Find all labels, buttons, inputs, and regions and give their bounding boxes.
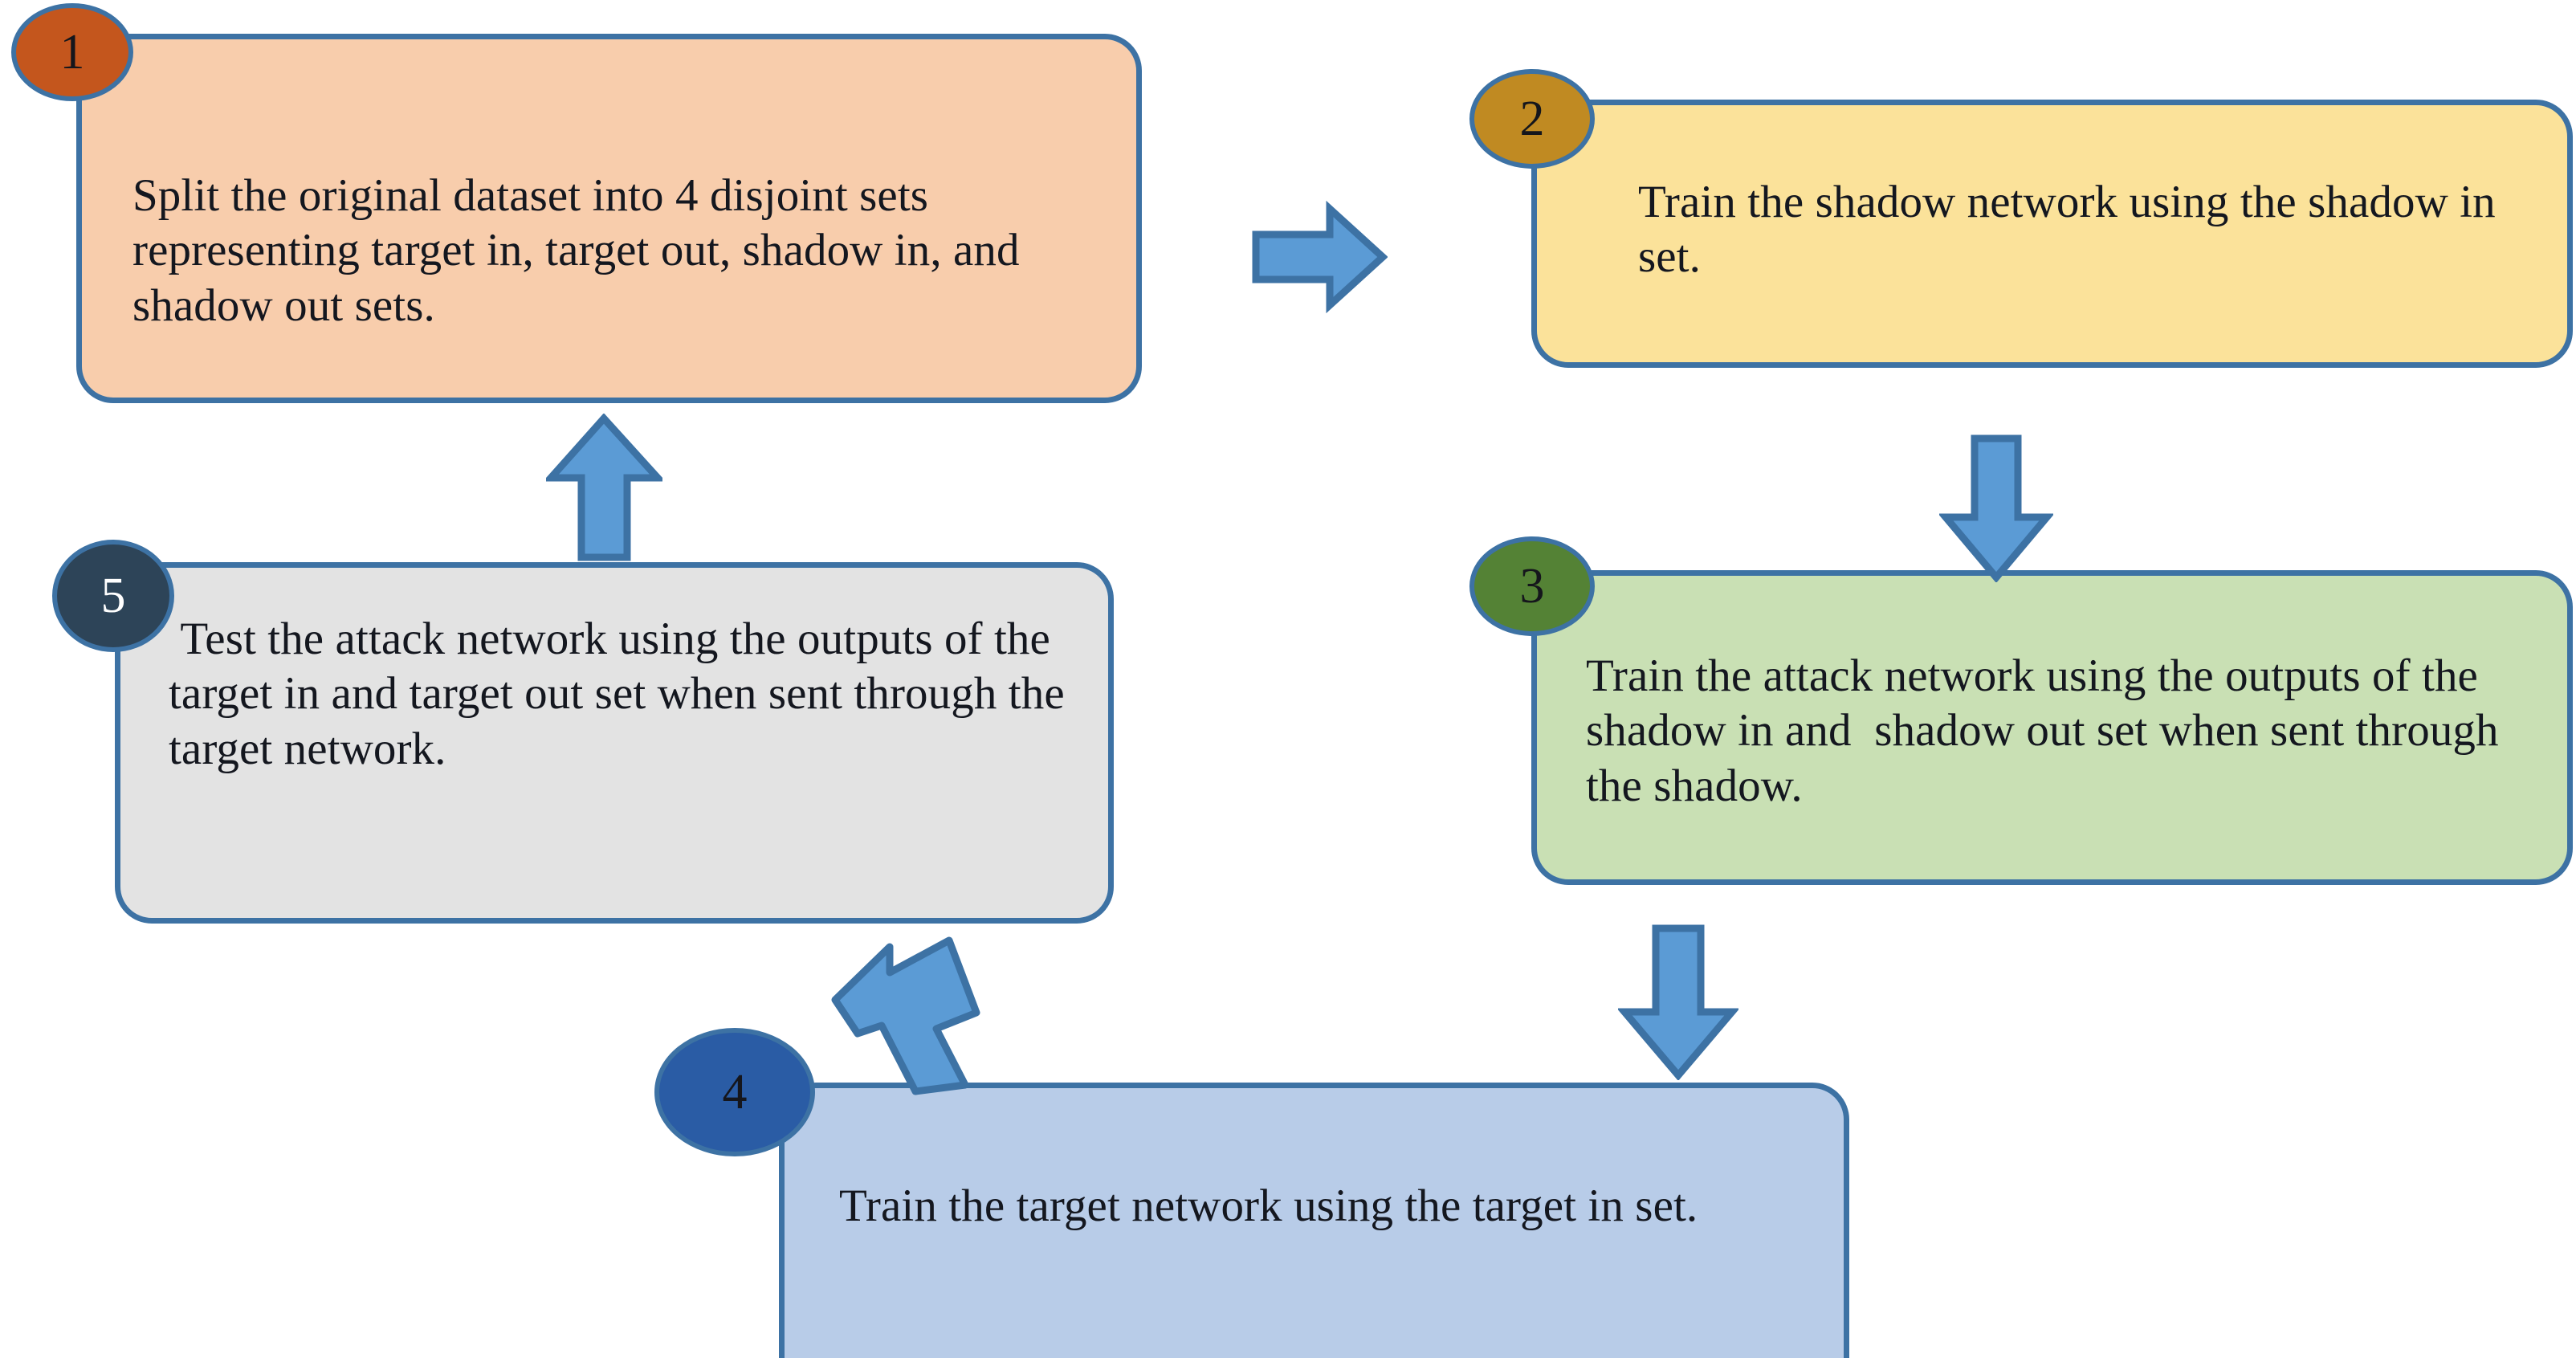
step-text-4: Train the target network using the targe… (839, 1179, 1815, 1234)
step-number-4: 4 (723, 1067, 748, 1117)
step-badge-2[interactable]: 2 (1469, 69, 1595, 169)
arrow-up-left-icon (827, 936, 1004, 1096)
step-number-5: 5 (101, 571, 126, 621)
step-badge-4[interactable]: 4 (654, 1028, 815, 1156)
step-badge-1[interactable]: 1 (11, 3, 133, 101)
step-text-2: Train the shadow network using the shado… (1638, 175, 2497, 285)
flowchart-canvas: Split the original dataset into 4 disjoi… (0, 0, 2576, 1358)
arrow-right-icon (1251, 201, 1388, 313)
step-number-2: 2 (1520, 94, 1545, 144)
arrow-down-icon (1939, 434, 2053, 582)
arrow-down-icon (1618, 924, 1738, 1080)
step-badge-5[interactable]: 5 (52, 540, 174, 652)
step-number-3: 3 (1520, 561, 1545, 611)
step-badge-3[interactable]: 3 (1469, 536, 1595, 636)
step-number-1: 1 (60, 27, 85, 77)
arrow-up-icon (546, 414, 662, 562)
step-text-5: Test the attack network using the output… (169, 612, 1072, 777)
step-text-3: Train the attack network using the outpu… (1586, 649, 2562, 814)
step-text-1: Split the original dataset into 4 disjoi… (132, 169, 1104, 333)
